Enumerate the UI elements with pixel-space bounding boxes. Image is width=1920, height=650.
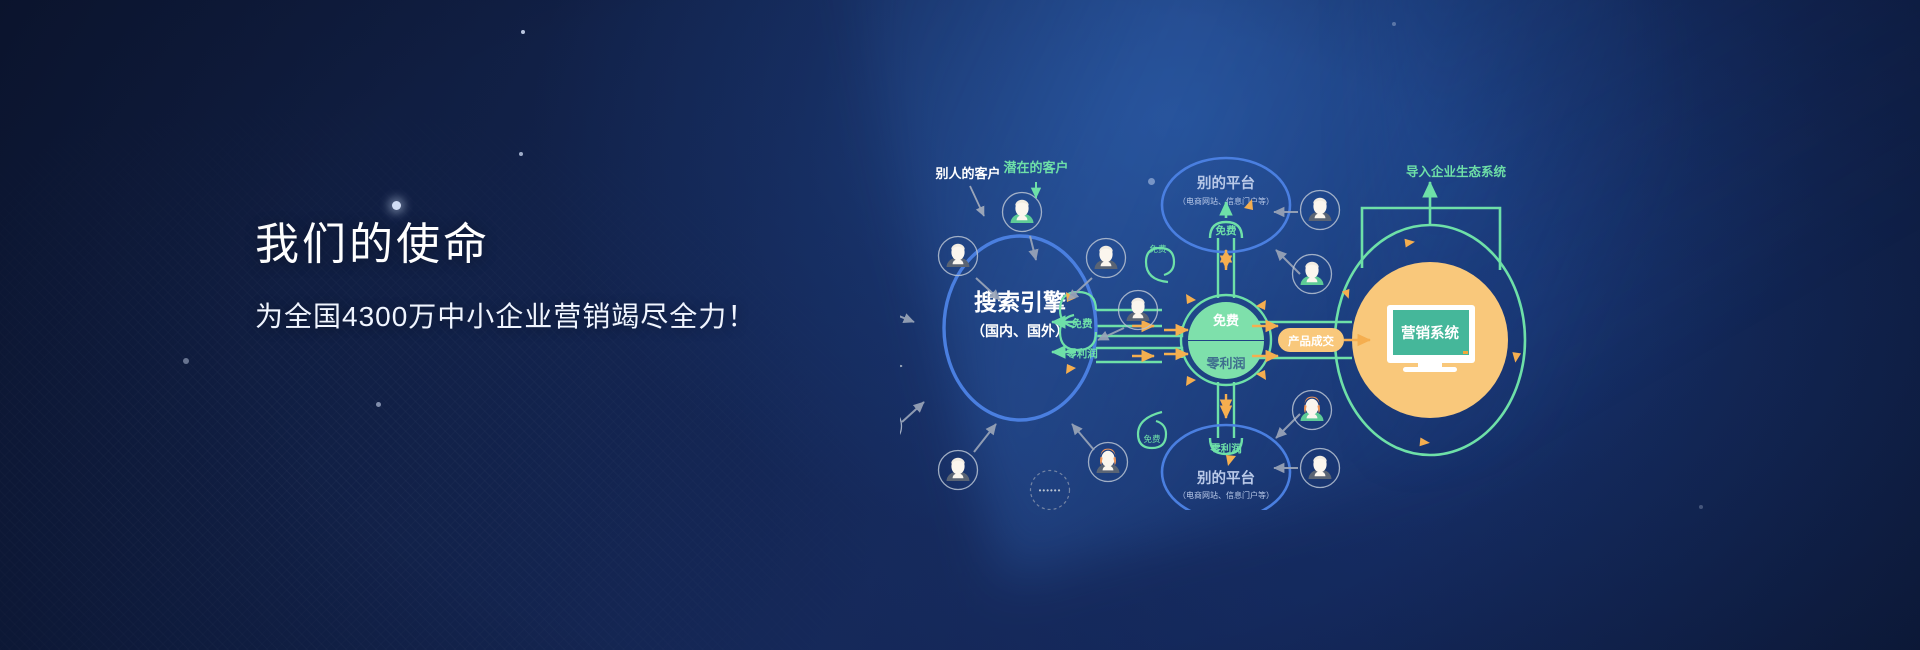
more-customers-node: •••••• — [1031, 471, 1070, 510]
avatar[interactable] — [1301, 191, 1340, 230]
hub-node[interactable]: 免费 零利润 — [1181, 295, 1271, 385]
monitor-base — [1403, 367, 1457, 372]
platform-bottom-orange-arrow — [1226, 455, 1236, 466]
mission-copy-block: 我们的使命 为全国4300万中小企业营销竭尽全力！ — [255, 218, 875, 336]
avatar[interactable] — [900, 407, 902, 446]
sparkle-dot — [1392, 22, 1396, 26]
monitor-led — [1463, 351, 1468, 354]
free-se-label: 免费 — [1072, 317, 1094, 330]
monitor-neck — [1418, 363, 1442, 367]
avatar[interactable] — [1089, 443, 1128, 482]
hub-top-label: 免费 — [1213, 313, 1239, 328]
mission-subtitle: 为全国4300万中小企业营销竭尽全力！ — [255, 297, 875, 336]
free-curve-top-label: 免费 — [1149, 244, 1167, 254]
sparkle-dot — [376, 402, 381, 407]
potential-customers-label: 潜在的客户 — [1003, 160, 1068, 175]
avatar[interactable] — [1293, 255, 1332, 294]
page-title: 我们的使命 — [255, 218, 875, 273]
platform-top-title: 别的平台 — [1196, 174, 1255, 192]
more-customers-label: •••••• — [1039, 486, 1062, 495]
platform-bottom-node[interactable]: 零利润 别的平台 （电商网站、信息门户等） — [1162, 425, 1290, 510]
avatar[interactable] — [1293, 391, 1332, 430]
sparkle-dot — [183, 358, 189, 364]
free-curve-bottom-label: 免费 — [1143, 434, 1161, 444]
avatar[interactable] — [1087, 239, 1126, 278]
platform-bottom-tag: 零利润 — [1209, 442, 1242, 455]
platform-bottom-subtitle: （电商网站、信息门户等） — [1178, 490, 1274, 500]
sparkle-dot — [392, 201, 401, 210]
marketing-system-label: 营销系统 — [1401, 324, 1459, 342]
sparkle-dot — [521, 30, 525, 34]
marketing-system-node[interactable]: 营销系统 — [1352, 262, 1508, 418]
sparkle-dot — [1699, 505, 1703, 509]
sparkle-dot — [519, 152, 523, 156]
search-engine-title: 搜索引擎 — [974, 289, 1066, 315]
deal-pill-label: 产品成交 — [1288, 334, 1334, 348]
hub-bottom-label: 零利润 — [1205, 356, 1245, 371]
others-label-arrow — [970, 186, 984, 216]
search-engine-subtitle: （国内、国外） — [971, 323, 1069, 339]
others-customers-label: 别人的客户 — [934, 166, 1000, 181]
platform-top-tag: 免费 — [1216, 224, 1238, 237]
import-eco-label: 导入企业生态系统 — [1406, 164, 1507, 179]
platform-bottom-title: 别的平台 — [1196, 469, 1255, 487]
marketing-ecosystem-diagram: 营销系统 — [900, 150, 1560, 510]
deal-pill[interactable]: 产品成交 — [1278, 328, 1344, 352]
avatar[interactable] — [939, 451, 978, 490]
zero-profit-se-label: 零利润 — [1065, 347, 1098, 360]
hero-banner: 我们的使命 为全国4300万中小企业营销竭尽全力！ — [0, 0, 1920, 650]
platform-top-node[interactable]: 别的平台 （电商网站、信息门户等） 免费 — [1162, 158, 1290, 252]
avatar[interactable] — [1003, 193, 1042, 232]
avatar[interactable] — [1301, 449, 1340, 488]
